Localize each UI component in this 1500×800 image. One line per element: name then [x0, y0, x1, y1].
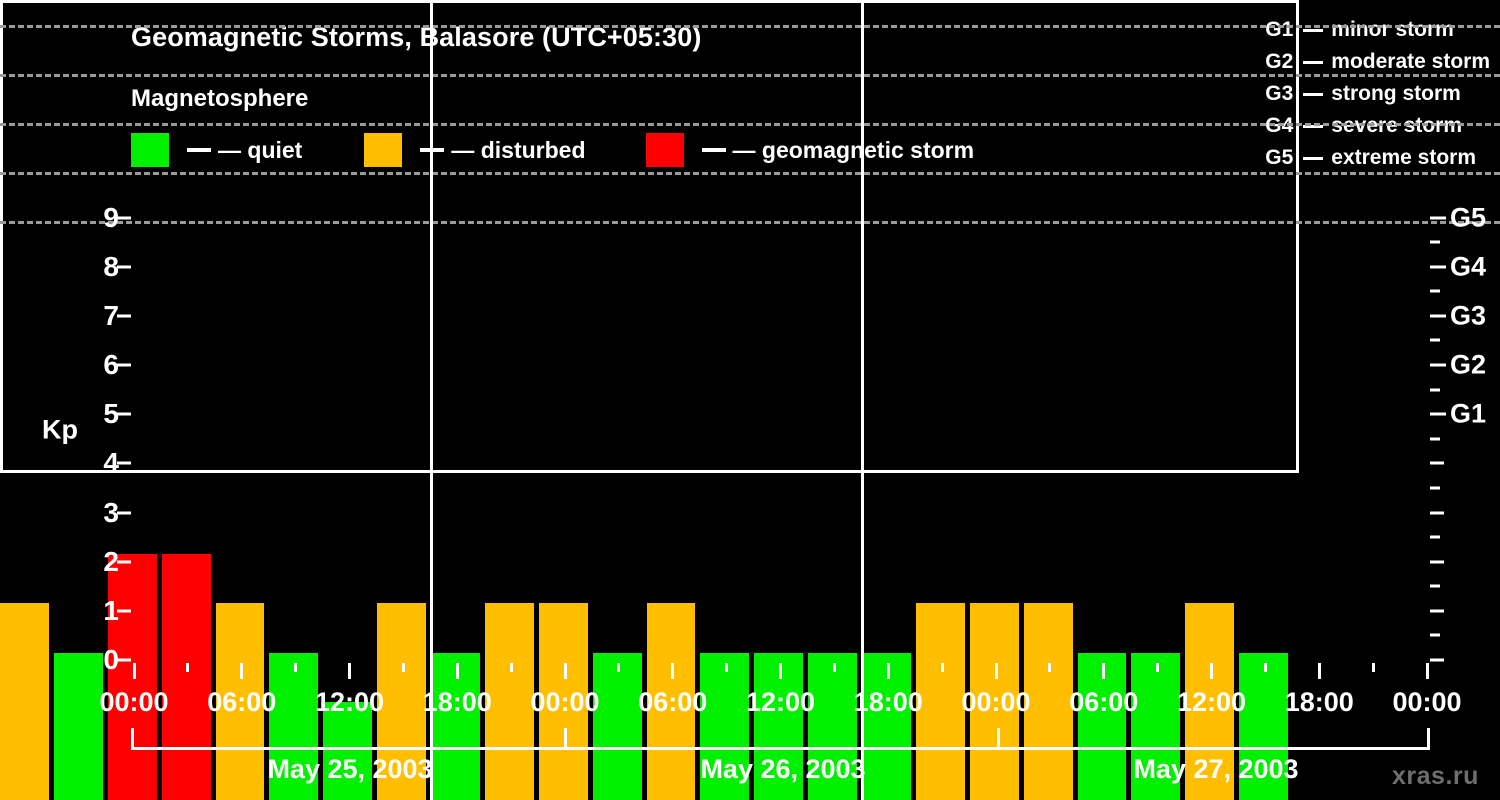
x-minor-tick-17 [1048, 663, 1051, 672]
y-tick-4 [117, 462, 131, 465]
g-axis-minor-tick [1430, 339, 1440, 342]
g-axis-label-G4: G4 [1450, 251, 1486, 282]
g-axis-tick-minor-0 [1430, 659, 1444, 662]
x-tick-label-9: 06:00 [1069, 687, 1138, 718]
x-tick-0 [133, 663, 136, 679]
y-tick-label-5: 5 [83, 398, 119, 430]
g-axis-tick-G3 [1430, 314, 1446, 317]
bracket-divider-1 [564, 728, 567, 750]
g-axis-tick-minor-1 [1430, 609, 1444, 612]
x-tick-8 [995, 663, 998, 679]
y-tick-label-6: 6 [83, 349, 119, 381]
x-tick-label-5: 06:00 [638, 687, 707, 718]
x-tick-label-10: 12:00 [1177, 687, 1246, 718]
date-label-day3: May 27, 2003 [1133, 754, 1298, 785]
y-tick-7 [117, 314, 131, 317]
x-minor-tick-21 [1264, 663, 1267, 672]
x-minor-tick-13 [833, 663, 836, 672]
y-tick-label-7: 7 [83, 300, 119, 332]
bracket-divider-2 [997, 728, 1000, 750]
y-tick-label-9: 9 [83, 202, 119, 234]
x-tick-11 [1318, 663, 1321, 679]
x-tick-label-6: 12:00 [746, 687, 815, 718]
g-axis-tick-minor-4 [1430, 462, 1444, 465]
x-tick-label-0: 00:00 [99, 687, 168, 718]
y-tick-5 [117, 413, 131, 416]
g-axis-label-G2: G2 [1450, 350, 1486, 381]
x-tick-6 [779, 663, 782, 679]
g-axis-label-G3: G3 [1450, 300, 1486, 331]
x-minor-tick-23 [1372, 663, 1375, 672]
x-tick-1 [240, 663, 243, 679]
x-minor-tick-9 [617, 663, 620, 672]
x-tick-12 [1426, 663, 1429, 679]
g-axis-tick-G1 [1430, 413, 1446, 416]
g-axis-tick-minor-2 [1430, 560, 1444, 563]
x-minor-tick-19 [1156, 663, 1159, 672]
x-minor-tick-3 [294, 663, 297, 672]
g-axis-minor-tick [1430, 290, 1440, 293]
x-tick-label-8: 00:00 [961, 687, 1030, 718]
g-axis-label-G1: G1 [1450, 399, 1486, 430]
g-axis-tick-G5 [1430, 216, 1446, 219]
g-axis-minor-tick [1430, 241, 1440, 244]
y-tick-8 [117, 265, 131, 268]
y-tick-label-0: 0 [83, 644, 119, 676]
date-label-day1: May 25, 2003 [267, 754, 432, 785]
g-axis-minor-tick [1430, 585, 1440, 588]
g-axis-tick-G4 [1430, 265, 1446, 268]
x-tick-label-12: 00:00 [1392, 687, 1461, 718]
y-tick-label-2: 2 [83, 546, 119, 578]
g-axis-minor-tick [1430, 536, 1440, 539]
y-tick-label-3: 3 [83, 497, 119, 529]
y-tick-label-4: 4 [83, 447, 119, 479]
x-tick-label-11: 18:00 [1285, 687, 1354, 718]
y-tick-label-1: 1 [83, 595, 119, 627]
x-tick-7 [887, 663, 890, 679]
axes-labels: 0123456789G1G2G3G4G500:0006:0012:0018:00… [0, 0, 1500, 800]
x-minor-tick-5 [402, 663, 405, 672]
g-axis-minor-tick [1430, 437, 1440, 440]
y-tick-2 [117, 560, 131, 563]
g-axis-minor-tick [1430, 486, 1440, 489]
g-axis-minor-tick [1430, 388, 1440, 391]
x-tick-10 [1210, 663, 1213, 679]
x-tick-4 [564, 663, 567, 679]
y-tick-6 [117, 364, 131, 367]
x-minor-tick-1 [186, 663, 189, 672]
date-bracket [131, 728, 1430, 750]
y-tick-1 [117, 609, 131, 612]
x-tick-label-7: 18:00 [854, 687, 923, 718]
x-tick-2 [348, 663, 351, 679]
x-tick-5 [671, 663, 674, 679]
x-tick-label-3: 18:00 [423, 687, 492, 718]
x-tick-3 [456, 663, 459, 679]
x-minor-tick-15 [941, 663, 944, 672]
x-tick-label-2: 12:00 [315, 687, 384, 718]
g-axis-tick-minor-3 [1430, 511, 1444, 514]
x-minor-tick-11 [725, 663, 728, 672]
g-axis-label-G5: G5 [1450, 202, 1486, 233]
date-label-day2: May 26, 2003 [700, 754, 865, 785]
y-tick-9 [117, 216, 131, 219]
x-tick-label-4: 00:00 [530, 687, 599, 718]
watermark: xras.ru [1392, 762, 1479, 791]
x-tick-9 [1102, 663, 1105, 679]
y-tick-label-8: 8 [83, 251, 119, 283]
x-minor-tick-7 [510, 663, 513, 672]
y-tick-0 [117, 659, 131, 662]
x-tick-label-1: 06:00 [207, 687, 276, 718]
y-tick-3 [117, 511, 131, 514]
g-axis-tick-G2 [1430, 364, 1446, 367]
g-axis-minor-tick [1430, 634, 1440, 637]
